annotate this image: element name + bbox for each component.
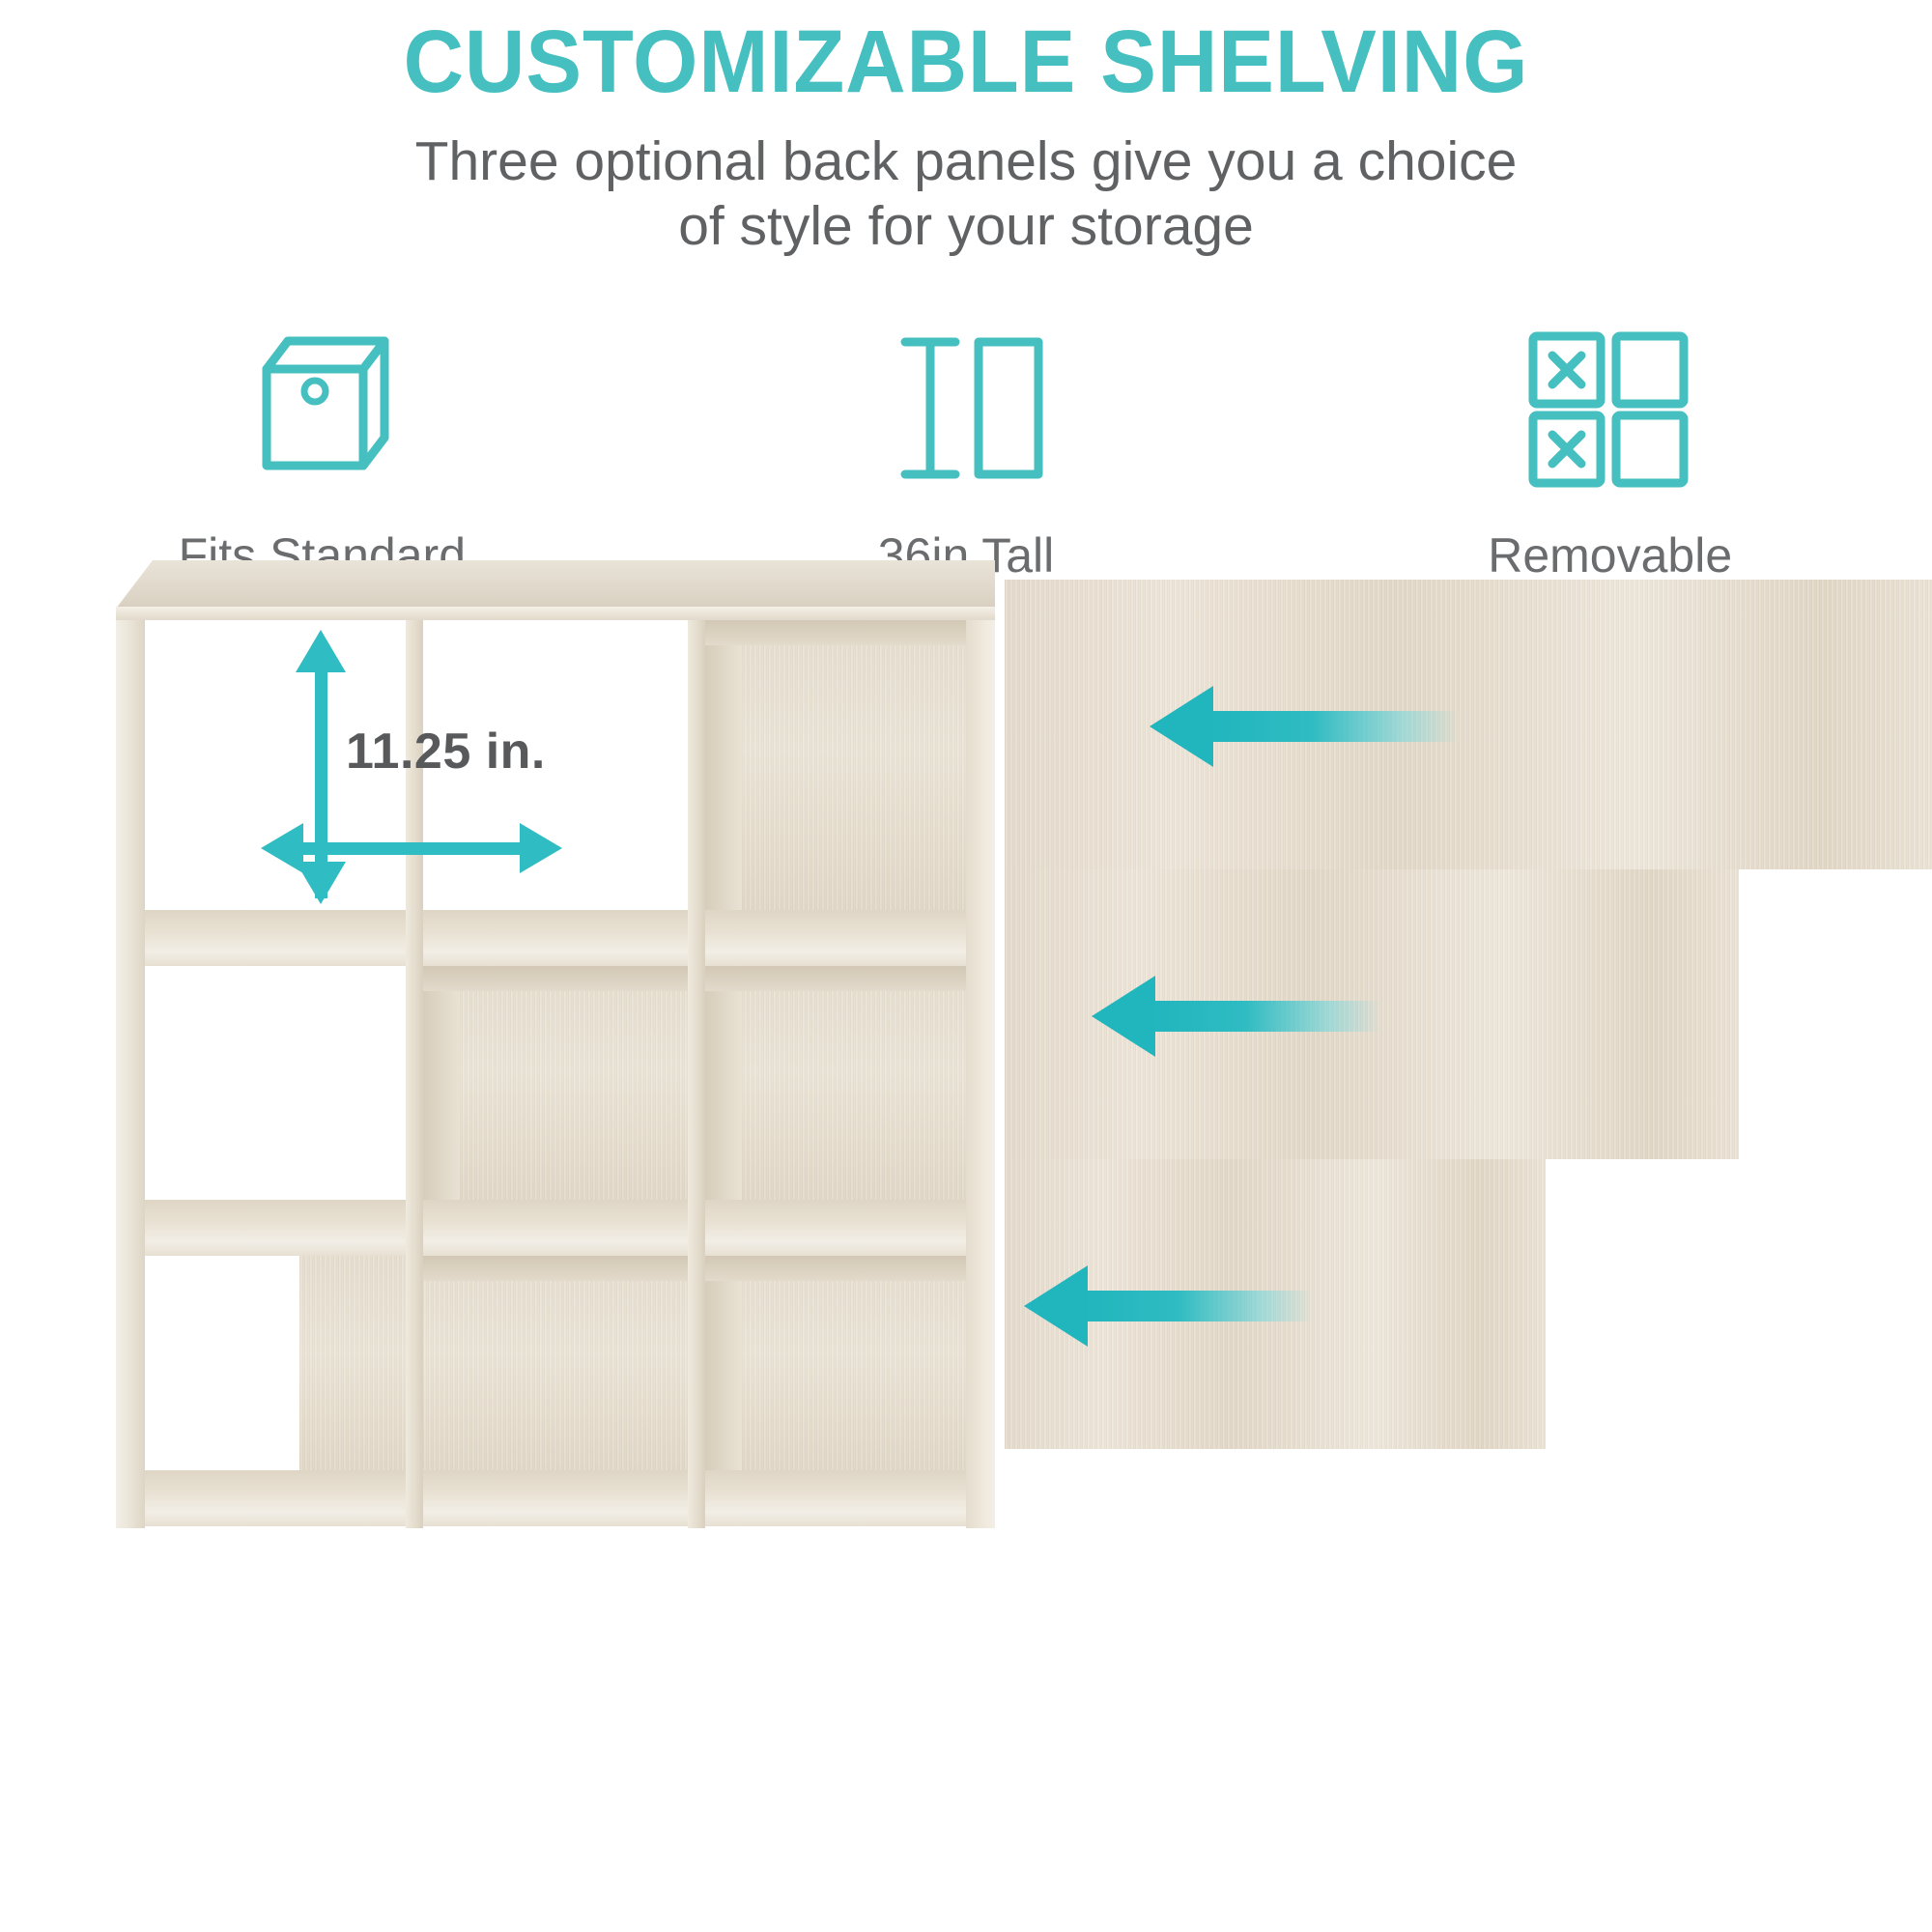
- arrow-left-icon: [1024, 1265, 1088, 1347]
- cube-inner-top: [705, 620, 966, 645]
- cube-r3c3[interactable]: [705, 1256, 966, 1470]
- cube-r2c1[interactable]: [145, 966, 406, 1200]
- cube-r1c3[interactable]: [705, 620, 966, 910]
- infographic-page: CUSTOMIZABLE SHELVING Three optional bac…: [0, 0, 1932, 1932]
- shelf-slab: [116, 910, 995, 966]
- cube-r3c1[interactable]: [145, 1256, 299, 1470]
- arrow-shaft: [1206, 711, 1459, 742]
- arrow-left-icon: [1150, 686, 1213, 767]
- unit-right-side-panel: [966, 620, 995, 1528]
- dimension-horizontal-line: [292, 842, 535, 855]
- unit-top-surface: [116, 560, 995, 609]
- vertical-divider-2: [688, 620, 705, 1528]
- shelf-divider-2: [116, 1200, 995, 1256]
- cube-inner-side: [705, 1256, 742, 1470]
- cube-inner-top: [705, 966, 966, 991]
- cube-inner-top: [423, 1256, 688, 1281]
- cube-r2c3[interactable]: [705, 966, 966, 1200]
- panel-insert-arrow-top: [1150, 686, 1459, 767]
- shelf-slab: [116, 1200, 995, 1256]
- cube-shelving-unit: 11.25 in.: [116, 560, 1034, 1594]
- height-dimension-icon: [882, 319, 1051, 497]
- feature-3-label-line-1: Removable: [1476, 526, 1745, 584]
- base-slab: [116, 1470, 995, 1526]
- arrow-shaft: [1080, 1291, 1314, 1321]
- panel-insert-arrow-bottom: [1024, 1265, 1314, 1347]
- page-title: CUSTOMIZABLE SHELVING: [58, 17, 1874, 108]
- cube-inner-top: [423, 966, 688, 991]
- removable-panel-grid-icon: [1520, 319, 1699, 497]
- cube-inner-top: [705, 1256, 966, 1281]
- page-subtitle: Three optional back panels give you a ch…: [0, 129, 1932, 260]
- unit-left-side-panel: [116, 620, 145, 1528]
- arrow-left-icon: [261, 823, 303, 873]
- unit-base-board: [116, 1470, 995, 1526]
- cube-r2c2[interactable]: [423, 966, 688, 1200]
- header: CUSTOMIZABLE SHELVING Three optional bac…: [0, 0, 1932, 259]
- arrow-right-icon: [520, 823, 562, 873]
- arrow-shaft: [1148, 1001, 1381, 1032]
- storage-basket-cube-icon: [238, 319, 407, 497]
- cube-inner-side: [705, 966, 742, 1200]
- cube-r3c1b[interactable]: [299, 1256, 406, 1470]
- unit-carcass: [116, 620, 995, 1528]
- cube-r3c2[interactable]: [423, 1256, 688, 1470]
- arrow-up-icon: [296, 630, 346, 672]
- shelf-divider-1: [116, 910, 995, 966]
- subtitle-line-2: of style for your storage: [0, 194, 1932, 259]
- dimension-label: 11.25 in.: [346, 723, 546, 781]
- panel-insert-arrow-middle: [1092, 976, 1381, 1057]
- product-illustration: 11.25 in.: [0, 676, 1932, 1932]
- cube-inner-side: [705, 620, 742, 910]
- subtitle-line-1: Three optional back panels give you a ch…: [0, 129, 1932, 194]
- back-panel-top[interactable]: [1005, 580, 1932, 869]
- cube-inner-side: [423, 966, 460, 1200]
- arrow-left-icon: [1092, 976, 1155, 1057]
